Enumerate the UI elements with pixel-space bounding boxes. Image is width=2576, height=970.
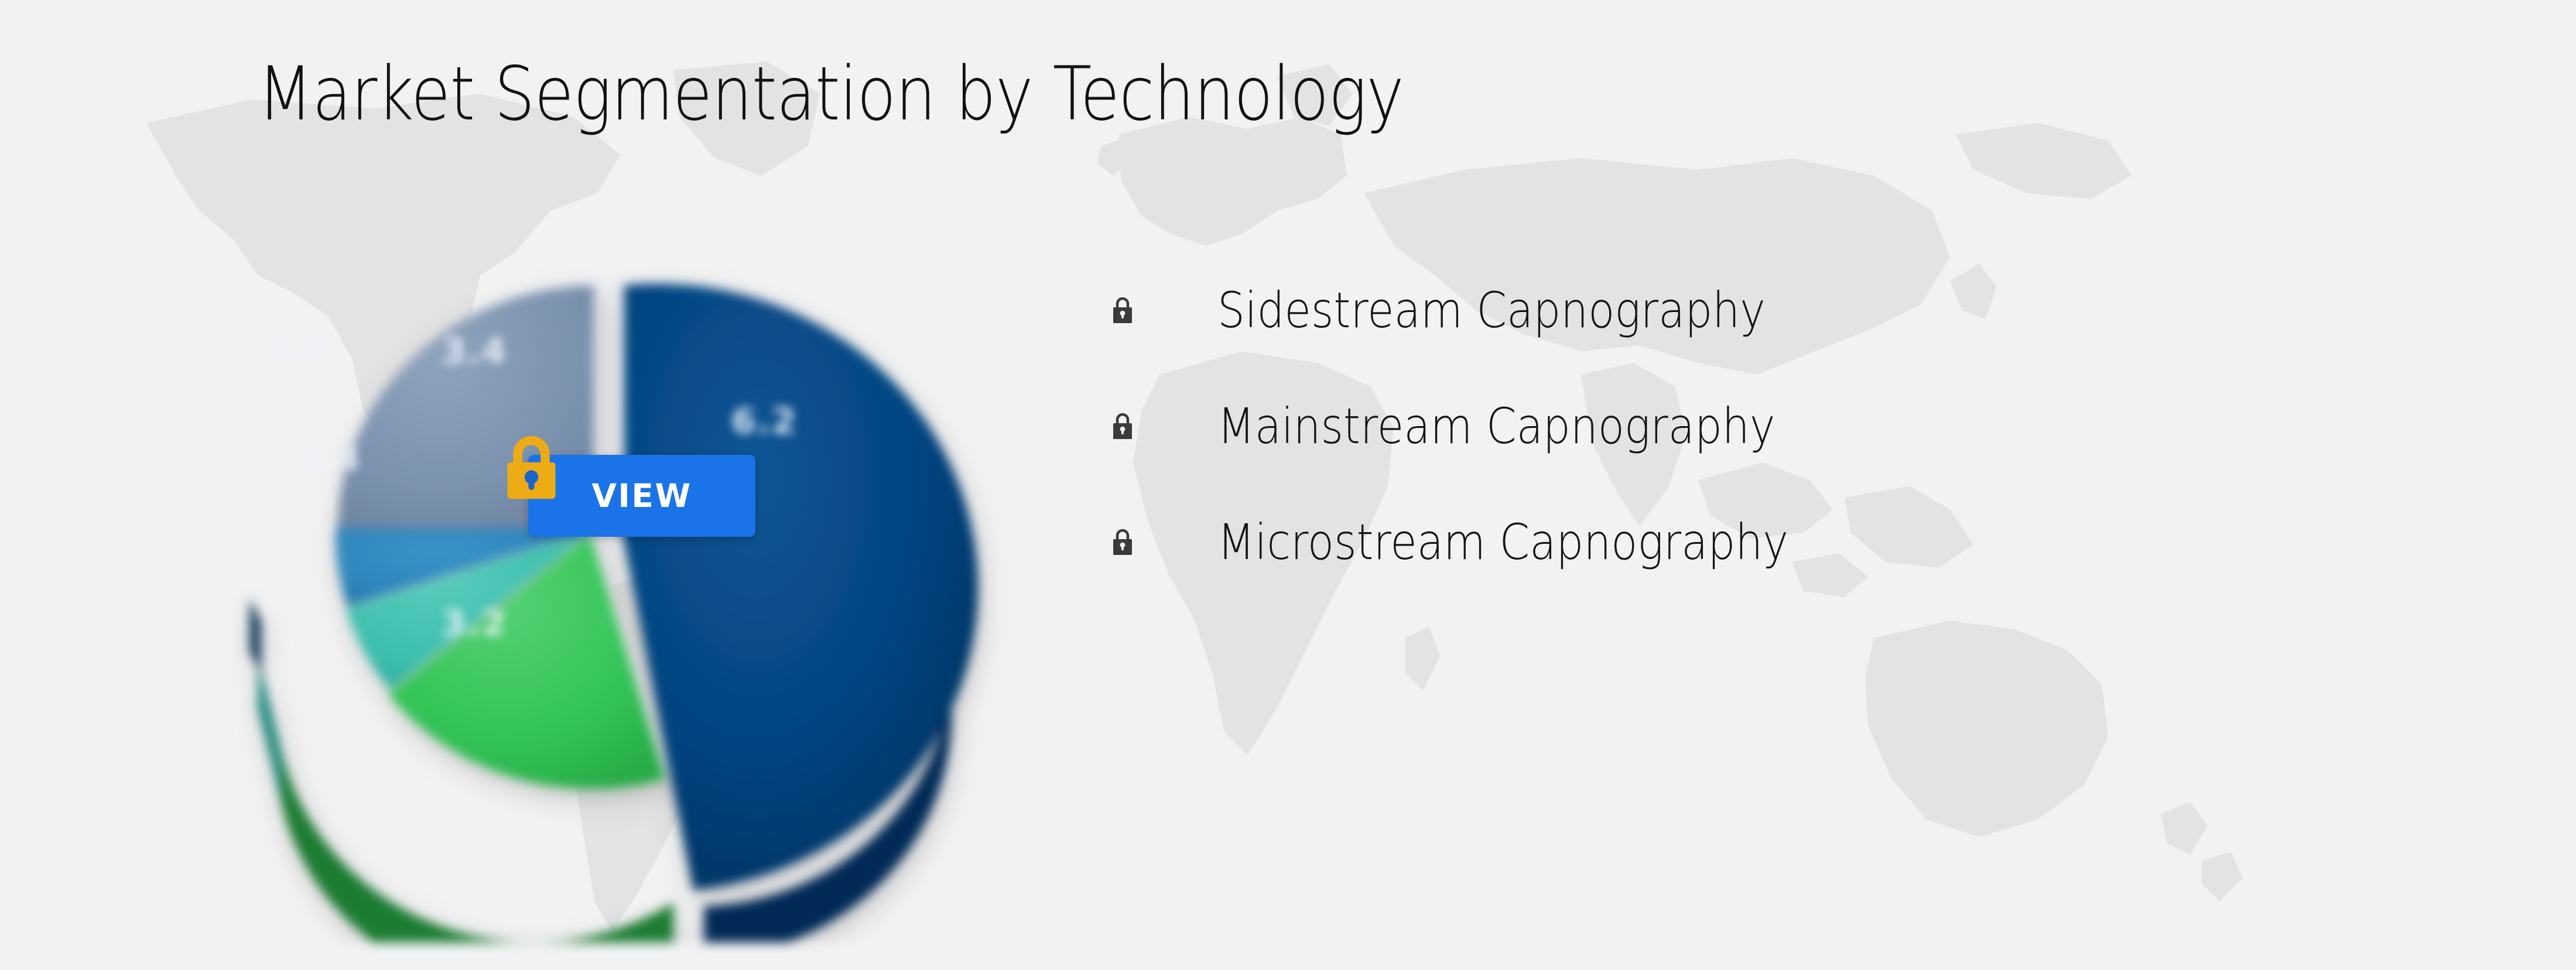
slice-label-green: 3.2 (442, 603, 507, 644)
lock-icon (1110, 411, 1135, 441)
legend-item-sidestream[interactable]: Sidestream Capnography (1110, 275, 1866, 345)
legend-item-label: Sidestream Capnography (1217, 286, 1766, 335)
slice-label-grey: 3.4 (442, 331, 507, 372)
page-title: Market Segmentation by Technology (258, 54, 1404, 134)
legend-item-label: Mainstream Capnography (1217, 402, 1775, 451)
padlock-icon (495, 430, 568, 503)
legend: Sidestream Capnography Mainstream Capnog… (1110, 275, 1866, 577)
legend-item-label: Microstream Capnography (1217, 517, 1788, 567)
legend-item-microstream[interactable]: Microstream Capnography (1110, 507, 1866, 577)
slice-label-teal: 1.4 (301, 441, 361, 478)
locked-content-overlay: VIEW (495, 430, 747, 565)
legend-item-mainstream[interactable]: Mainstream Capnography (1110, 391, 1866, 461)
lock-icon (1110, 295, 1135, 325)
view-button-label: VIEW (591, 477, 692, 515)
slice-label-steel: 1.2 (266, 330, 326, 367)
lock-icon (1110, 527, 1135, 557)
